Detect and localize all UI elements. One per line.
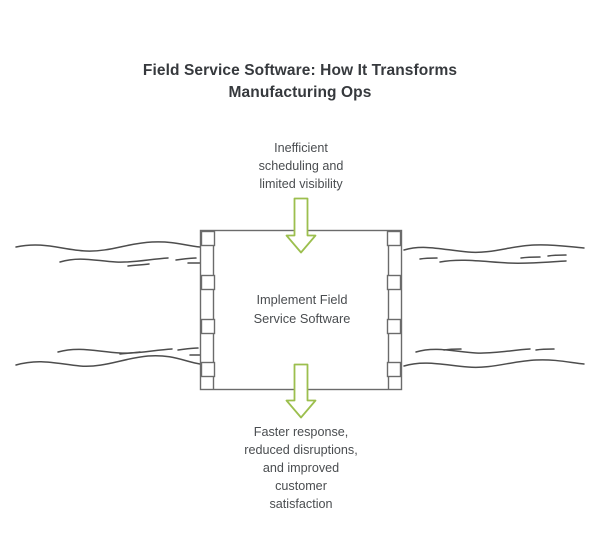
outcome-label-line-5: satisfaction bbox=[205, 495, 397, 513]
solution-box-label: Implement Field Service Software bbox=[212, 290, 392, 328]
outcome-label-line-3: and improved bbox=[205, 459, 397, 477]
problem-label-line-1: Inefficient bbox=[205, 139, 397, 157]
water-lower-right bbox=[404, 349, 584, 367]
outcome-label: Faster response, reduced disruptions, an… bbox=[205, 423, 397, 513]
problem-label: Inefficient scheduling and limited visib… bbox=[205, 139, 397, 193]
diagram-canvas: Field Service Software: How It Transform… bbox=[0, 0, 600, 547]
water-upper-left bbox=[16, 242, 200, 266]
water-lower-left bbox=[16, 348, 200, 366]
outcome-label-line-1: Faster response, bbox=[205, 423, 397, 441]
problem-label-line-3: limited visibility bbox=[205, 175, 397, 193]
problem-label-line-2: scheduling and bbox=[205, 157, 397, 175]
solution-label-line-1: Implement Field bbox=[212, 290, 392, 309]
outcome-label-line-2: reduced disruptions, bbox=[205, 441, 397, 459]
solution-label-line-2: Service Software bbox=[212, 309, 392, 328]
outcome-label-line-4: customer bbox=[205, 477, 397, 495]
water-upper-right bbox=[404, 245, 584, 263]
